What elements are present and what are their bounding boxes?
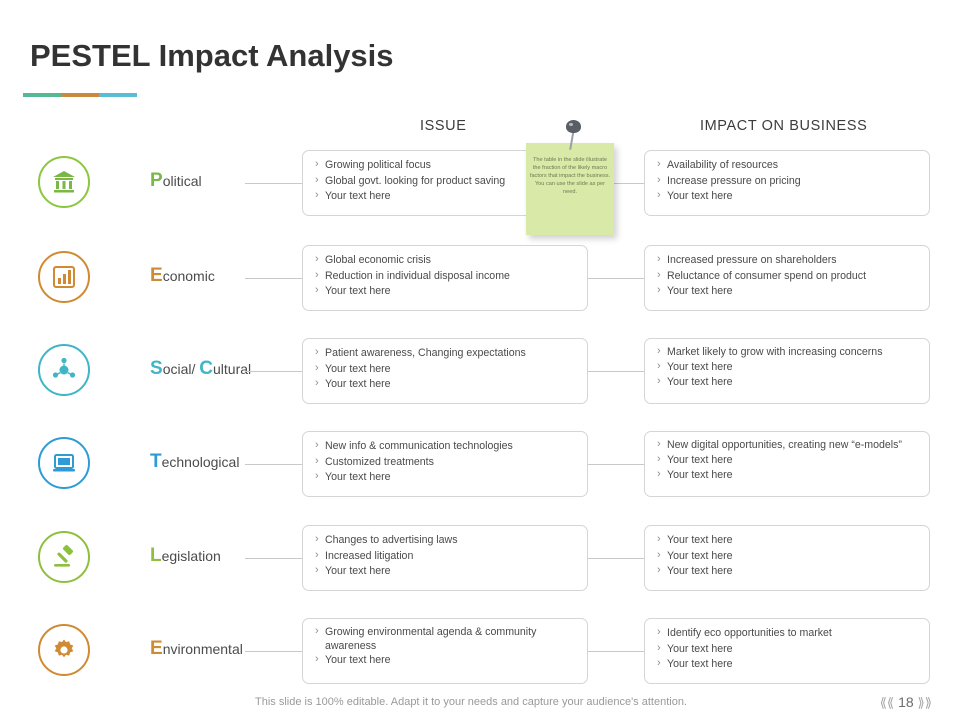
row-label: Environmental — [150, 638, 290, 660]
issue-text-box[interactable]: New info & communication technologiesCus… — [302, 431, 588, 497]
page-title: PESTEL Impact Analysis — [30, 38, 394, 74]
bullet-item: Your text here — [315, 653, 577, 669]
bullet-list: Availability of resourcesIncrease pressu… — [657, 158, 919, 205]
bullet-item: Your text here — [657, 533, 919, 549]
impact-text-box[interactable]: Availability of resourcesIncrease pressu… — [644, 150, 930, 216]
bullet-item: Your text here — [315, 362, 577, 378]
box-connector-line — [586, 651, 644, 652]
bullet-item: Your text here — [657, 375, 919, 391]
label-connector-line — [245, 183, 302, 184]
bullet-list: Global economic crisisReduction in indiv… — [315, 253, 577, 300]
bullet-item: Your text here — [315, 284, 577, 300]
bullet-item: Reluctance of consumer spend on product — [657, 269, 919, 285]
bullet-item: Your text here — [657, 657, 919, 673]
label-connector-line — [245, 651, 302, 652]
growth-chart-icon — [51, 264, 77, 290]
row-label: Political — [150, 170, 290, 192]
row-label: Legislation — [150, 545, 290, 567]
bullet-item: Your text here — [315, 377, 577, 393]
row-label: Technological — [150, 451, 290, 473]
slide-root: PESTEL Impact Analysis ISSUE IMPACT ON B… — [0, 0, 960, 720]
bullet-item: New info & communication technologies — [315, 439, 577, 455]
bullet-item: Your text here — [657, 564, 919, 580]
impact-text-box[interactable]: Increased pressure on shareholdersReluct… — [644, 245, 930, 311]
bullet-item: Increased litigation — [315, 549, 577, 565]
box-connector-line — [586, 371, 644, 372]
column-header-issue: ISSUE — [420, 118, 467, 134]
row-icon-badge — [38, 251, 90, 303]
bullet-item: Reduction in individual disposal income — [315, 269, 577, 285]
bullet-item: Growing environmental agenda & community… — [315, 626, 577, 653]
impact-text-box[interactable]: New digital opportunities, creating new … — [644, 431, 930, 497]
bullet-item: New digital opportunities, creating new … — [657, 439, 919, 453]
gavel-icon — [51, 544, 77, 570]
bullet-item: Your text here — [657, 284, 919, 300]
government-building-icon — [51, 169, 77, 195]
bullet-item: Identify eco opportunities to market — [657, 626, 919, 642]
gear-leaf-icon — [51, 637, 77, 663]
sticky-note-text: The table in the slide illustrate the fr… — [529, 156, 611, 196]
page-number: ⟪⟪ 18 ⟫⟫ — [880, 694, 932, 711]
label-connector-line — [245, 371, 302, 372]
bullet-list: New info & communication technologiesCus… — [315, 439, 577, 486]
bullet-list: Identify eco opportunities to marketYour… — [657, 626, 919, 673]
issue-text-box[interactable]: Changes to advertising lawsIncreased lit… — [302, 525, 588, 591]
title-underline-rule — [23, 93, 143, 97]
bullet-item: Your text here — [315, 564, 577, 580]
pin-head-icon — [566, 120, 581, 133]
pestel-row: Social/ CulturalPatient awareness, Chang… — [0, 338, 960, 430]
bullet-item: Increased pressure on shareholders — [657, 253, 919, 269]
issue-text-box[interactable]: Global economic crisisReduction in indiv… — [302, 245, 588, 311]
rule-segment-1 — [23, 93, 61, 97]
bullet-item: Your text here — [657, 453, 919, 469]
pin-highlight-icon — [569, 123, 573, 126]
bullet-item: Your text here — [657, 642, 919, 658]
pestel-row: TechnologicalNew info & communication te… — [0, 431, 960, 523]
chevron-right-icon: ⟫⟫ — [918, 695, 932, 710]
bullet-item: Global economic crisis — [315, 253, 577, 269]
issue-text-box[interactable]: Patient awareness, Changing expectations… — [302, 338, 588, 404]
row-icon-badge — [38, 344, 90, 396]
pestel-row: PoliticalGrowing political focusGlobal g… — [0, 150, 960, 242]
issue-text-box[interactable]: Growing environmental agenda & community… — [302, 618, 588, 684]
label-connector-line — [245, 558, 302, 559]
pestel-row: LegislationChanges to advertising lawsIn… — [0, 525, 960, 617]
rule-segment-2 — [61, 93, 99, 97]
bullet-list: Increased pressure on shareholdersReluct… — [657, 253, 919, 300]
people-network-icon — [51, 357, 77, 383]
chevron-left-icon: ⟪⟪ — [880, 695, 894, 710]
bullet-list: New digital opportunities, creating new … — [657, 439, 919, 484]
box-connector-line — [586, 278, 644, 279]
row-icon-badge — [38, 624, 90, 676]
bullet-item: Your text here — [657, 549, 919, 565]
box-connector-line — [586, 464, 644, 465]
pestel-row: EconomicGlobal economic crisisReduction … — [0, 245, 960, 337]
bullet-item: Increase pressure on pricing — [657, 174, 919, 190]
rule-segment-3 — [99, 93, 137, 97]
bullet-item: Changes to advertising laws — [315, 533, 577, 549]
impact-text-box[interactable]: Your text hereYour text hereYour text he… — [644, 525, 930, 591]
impact-text-box[interactable]: Market likely to grow with increasing co… — [644, 338, 930, 404]
bullet-item: Your text here — [657, 468, 919, 484]
page-number-value: 18 — [898, 694, 914, 710]
laptop-icon — [51, 450, 77, 476]
row-icon-badge — [38, 531, 90, 583]
row-label: Social/ Cultural — [150, 358, 290, 380]
column-header-impact: IMPACT ON BUSINESS — [700, 118, 867, 134]
bullet-list: Changes to advertising lawsIncreased lit… — [315, 533, 577, 580]
bullet-list: Patient awareness, Changing expectations… — [315, 346, 577, 393]
label-connector-line — [245, 464, 302, 465]
box-connector-line — [586, 558, 644, 559]
bullet-list: Your text hereYour text hereYour text he… — [657, 533, 919, 580]
bullet-item: Your text here — [657, 189, 919, 205]
bullet-list: Market likely to grow with increasing co… — [657, 346, 919, 391]
bullet-item: Market likely to grow with increasing co… — [657, 346, 919, 360]
impact-text-box[interactable]: Identify eco opportunities to marketYour… — [644, 618, 930, 684]
label-connector-line — [245, 278, 302, 279]
bullet-item: Your text here — [315, 470, 577, 486]
footer-note: This slide is 100% editable. Adapt it to… — [255, 696, 687, 708]
bullet-item: Patient awareness, Changing expectations — [315, 346, 577, 362]
row-icon-badge — [38, 156, 90, 208]
bullet-item: Availability of resources — [657, 158, 919, 174]
bullet-list: Growing environmental agenda & community… — [315, 626, 577, 669]
row-label: Economic — [150, 265, 290, 287]
bullet-item: Customized treatments — [315, 455, 577, 471]
bullet-item: Your text here — [657, 360, 919, 376]
row-icon-badge — [38, 437, 90, 489]
